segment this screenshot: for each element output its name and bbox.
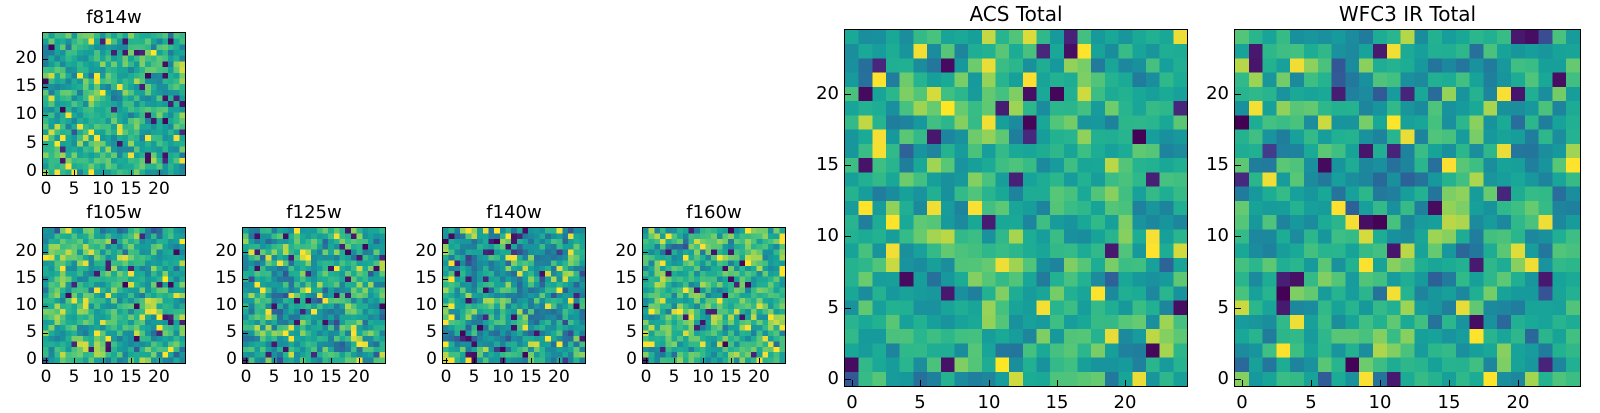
y-tick-label: 15 <box>377 268 437 288</box>
panel-wfc3-ir-total: WFC3 IR Total0510152005101520 <box>0 0 1600 400</box>
x-tick-label: 0 <box>416 367 476 387</box>
heatmap-image <box>243 228 385 363</box>
panel-title: f105w <box>43 202 185 223</box>
y-tick-mark <box>43 306 48 307</box>
y-tick-mark <box>443 306 448 307</box>
x-tick-mark <box>674 358 675 363</box>
y-tick-mark <box>845 94 851 95</box>
x-tick-mark <box>159 170 160 175</box>
y-tick-label: 0 <box>0 349 37 369</box>
y-tick-label: 20 <box>0 241 37 261</box>
x-tick-mark <box>103 170 104 175</box>
y-tick-mark <box>43 144 48 145</box>
panel-title: ACS Total <box>845 2 1187 26</box>
x-tick-mark <box>646 358 647 363</box>
y-tick-mark <box>243 306 248 307</box>
heatmap-image <box>643 228 785 363</box>
x-tick-label: 15 <box>1419 392 1479 413</box>
x-tick-mark <box>446 358 447 363</box>
x-tick-mark <box>559 358 560 363</box>
x-tick-mark <box>1449 380 1450 386</box>
x-tick-label: 5 <box>244 367 304 387</box>
x-tick-label: 10 <box>73 179 133 199</box>
x-tick-mark <box>1311 380 1312 386</box>
y-tick-mark <box>845 308 851 309</box>
x-tick-mark <box>1057 380 1058 386</box>
heatmap-image <box>1235 30 1580 386</box>
x-tick-mark <box>1380 380 1381 386</box>
x-tick-mark <box>359 358 360 363</box>
x-tick-mark <box>103 358 104 363</box>
x-tick-label: 20 <box>129 179 189 199</box>
y-tick-label: 15 <box>577 268 637 288</box>
x-tick-label: 15 <box>701 367 761 387</box>
x-tick-label: 10 <box>73 367 133 387</box>
y-tick-label: 5 <box>779 297 839 318</box>
heatmap-axes <box>1234 29 1581 387</box>
x-tick-label: 20 <box>129 367 189 387</box>
heatmap-image <box>43 228 185 363</box>
y-tick-label: 0 <box>177 349 237 369</box>
x-tick-label: 5 <box>44 367 104 387</box>
heatmap-axes <box>242 227 386 364</box>
y-tick-label: 10 <box>377 295 437 315</box>
x-tick-label: 20 <box>729 367 789 387</box>
x-tick-mark <box>920 380 921 386</box>
x-tick-mark <box>731 358 732 363</box>
x-tick-label: 20 <box>1488 392 1548 413</box>
y-tick-label: 5 <box>0 322 37 342</box>
y-tick-mark <box>643 360 648 361</box>
heatmap-axes <box>642 227 786 364</box>
heatmap-image <box>443 228 585 363</box>
figure-canvas: f814w0510152005101520f105w05101520051015… <box>0 0 1600 400</box>
y-tick-mark <box>643 306 648 307</box>
x-tick-label: 0 <box>216 367 276 387</box>
y-tick-label: 5 <box>1169 297 1229 318</box>
y-tick-mark <box>43 252 48 253</box>
y-tick-label: 20 <box>177 241 237 261</box>
y-tick-mark <box>43 279 48 280</box>
x-tick-mark <box>159 358 160 363</box>
x-tick-mark <box>131 358 132 363</box>
y-tick-label: 0 <box>1169 368 1229 389</box>
y-tick-label: 10 <box>577 295 637 315</box>
panel-f814w: f814w0510152005101520 <box>0 0 1600 400</box>
panel-f140w: f140w0510152005101520 <box>0 0 1600 400</box>
panel-acs-total: ACS Total0510152005101520 <box>0 0 1600 400</box>
y-tick-label: 15 <box>779 154 839 175</box>
y-tick-label: 10 <box>0 295 37 315</box>
panel-title: WFC3 IR Total <box>1235 2 1580 26</box>
x-tick-mark <box>331 358 332 363</box>
x-tick-mark <box>1518 380 1519 386</box>
y-tick-label: 10 <box>1169 225 1229 246</box>
y-tick-label: 15 <box>0 268 37 288</box>
y-tick-label: 20 <box>377 241 437 261</box>
y-tick-mark <box>643 333 648 334</box>
y-tick-label: 20 <box>577 241 637 261</box>
y-tick-mark <box>1235 379 1241 380</box>
x-tick-mark <box>989 380 990 386</box>
y-tick-label: 5 <box>0 133 37 153</box>
y-tick-mark <box>643 252 648 253</box>
panel-f160w: f160w0510152005101520 <box>0 0 1600 400</box>
heatmap-axes <box>42 32 186 176</box>
y-tick-label: 15 <box>1169 154 1229 175</box>
y-tick-mark <box>43 360 48 361</box>
heatmap-image <box>845 30 1187 386</box>
x-tick-label: 5 <box>444 367 504 387</box>
x-tick-label: 5 <box>1281 392 1341 413</box>
y-tick-label: 5 <box>177 322 237 342</box>
x-tick-label: 10 <box>673 367 733 387</box>
panel-f105w: f105w0510152005101520 <box>0 0 1600 400</box>
y-tick-mark <box>43 87 48 88</box>
y-tick-label: 0 <box>577 349 637 369</box>
x-tick-label: 5 <box>890 392 950 413</box>
x-tick-mark <box>703 358 704 363</box>
x-tick-mark <box>303 358 304 363</box>
y-tick-label: 10 <box>0 104 37 124</box>
x-tick-mark <box>46 170 47 175</box>
x-tick-label: 15 <box>101 367 161 387</box>
x-tick-mark <box>759 358 760 363</box>
y-tick-mark <box>643 279 648 280</box>
panel-title: f814w <box>43 7 185 28</box>
x-tick-mark <box>852 380 853 386</box>
panel-title: f125w <box>243 202 385 223</box>
y-tick-mark <box>845 379 851 380</box>
x-tick-mark <box>74 358 75 363</box>
y-tick-mark <box>845 165 851 166</box>
y-tick-mark <box>1235 236 1241 237</box>
x-tick-label: 15 <box>1027 392 1087 413</box>
panel-f125w: f125w0510152005101520 <box>0 0 1600 400</box>
y-tick-mark <box>443 252 448 253</box>
y-tick-label: 0 <box>779 368 839 389</box>
x-tick-label: 10 <box>473 367 533 387</box>
x-tick-label: 20 <box>529 367 589 387</box>
x-tick-label: 0 <box>16 367 76 387</box>
y-tick-mark <box>243 279 248 280</box>
x-tick-mark <box>503 358 504 363</box>
y-tick-label: 0 <box>377 349 437 369</box>
y-tick-label: 10 <box>177 295 237 315</box>
x-tick-mark <box>1242 380 1243 386</box>
y-tick-mark <box>443 333 448 334</box>
x-tick-label: 10 <box>273 367 333 387</box>
heatmap-axes <box>442 227 586 364</box>
x-tick-mark <box>46 358 47 363</box>
x-tick-label: 10 <box>1350 392 1410 413</box>
x-tick-label: 15 <box>501 367 561 387</box>
panel-title: f160w <box>643 202 785 223</box>
x-tick-label: 5 <box>44 179 104 199</box>
y-tick-mark <box>1235 165 1241 166</box>
x-tick-mark <box>274 358 275 363</box>
heatmap-axes <box>42 227 186 364</box>
y-tick-mark <box>43 59 48 60</box>
y-tick-mark <box>243 333 248 334</box>
x-tick-label: 0 <box>822 392 882 413</box>
y-tick-mark <box>43 172 48 173</box>
y-tick-label: 15 <box>0 76 37 96</box>
y-tick-mark <box>43 333 48 334</box>
panel-title: f140w <box>443 202 585 223</box>
x-tick-label: 0 <box>1212 392 1272 413</box>
y-tick-mark <box>443 279 448 280</box>
x-tick-label: 15 <box>301 367 361 387</box>
x-tick-mark <box>131 170 132 175</box>
y-tick-label: 20 <box>1169 83 1229 104</box>
y-tick-mark <box>845 236 851 237</box>
x-tick-label: 20 <box>329 367 389 387</box>
y-tick-mark <box>243 360 248 361</box>
y-tick-label: 10 <box>779 225 839 246</box>
y-tick-mark <box>1235 94 1241 95</box>
x-tick-mark <box>1125 380 1126 386</box>
y-tick-mark <box>443 360 448 361</box>
y-tick-mark <box>43 115 48 116</box>
x-tick-label: 10 <box>959 392 1019 413</box>
x-tick-label: 5 <box>644 367 704 387</box>
x-tick-mark <box>74 170 75 175</box>
x-tick-label: 0 <box>616 367 676 387</box>
heatmap-image <box>43 33 185 175</box>
x-tick-mark <box>531 358 532 363</box>
x-tick-label: 0 <box>16 179 76 199</box>
y-tick-label: 15 <box>177 268 237 288</box>
y-tick-label: 5 <box>377 322 437 342</box>
y-tick-label: 5 <box>577 322 637 342</box>
x-tick-label: 15 <box>101 179 161 199</box>
y-tick-label: 20 <box>779 83 839 104</box>
y-tick-mark <box>243 252 248 253</box>
x-tick-label: 20 <box>1095 392 1155 413</box>
x-tick-mark <box>246 358 247 363</box>
heatmap-axes <box>844 29 1188 387</box>
y-tick-mark <box>1235 308 1241 309</box>
y-tick-label: 0 <box>0 161 37 181</box>
x-tick-mark <box>474 358 475 363</box>
y-tick-label: 20 <box>0 48 37 68</box>
